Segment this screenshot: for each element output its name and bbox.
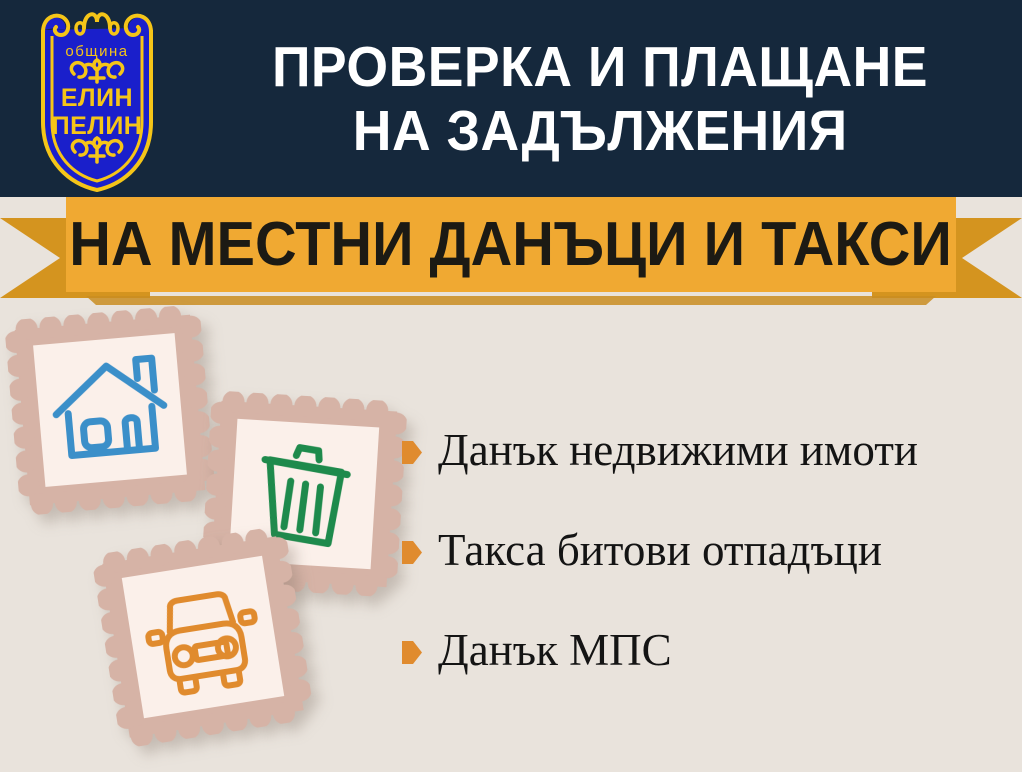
crest-label-line2: ПЕЛИН [52,112,143,140]
header-banner: община ЕЛИН ПЕЛИН ПРОВЕРКА И ПЛАЩАНЕ НА … [0,0,1022,197]
bullet-arrow-icon [402,641,422,664]
stamp-card-property [4,304,216,516]
ribbon-fold-shadow [76,296,946,305]
list-item[interactable]: Данък МПС [402,624,1012,724]
page-title-line-2: НА ЗАДЪЛЖЕНИЯ [353,99,848,163]
page-title-line-1: ПРОВЕРКА И ПЛАЩАНЕ [272,35,928,99]
page-title: ПРОВЕРКА И ПЛАЩАНЕ НА ЗАДЪЛЖЕНИЯ [178,0,1022,197]
stamp-card-vehicle [91,525,315,749]
crest-label-small: община [65,43,128,60]
bullet-arrow-icon [402,441,422,464]
crest-label-line1: ЕЛИН [61,84,133,112]
tax-type-list: Данък недвижими имоти Такса битови отпад… [402,424,1012,724]
ribbon-label: НА МЕСТНИ ДАНЪЦИ И ТАКСИ [70,213,953,277]
list-item-label: Данък недвижими имоти [438,424,918,476]
list-item[interactable]: Такса битови отпадъци [402,524,1012,624]
ribbon-band: НА МЕСТНИ ДАНЪЦИ И ТАКСИ [66,197,956,292]
list-item[interactable]: Данък недвижими имоти [402,424,1012,524]
poster-canvas: община ЕЛИН ПЕЛИН ПРОВЕРКА И ПЛАЩАНЕ НА … [0,0,1022,772]
list-item-label: Такса битови отпадъци [438,524,882,576]
list-item-label: Данък МПС [438,624,672,676]
subtitle-ribbon: НА МЕСТНИ ДАНЪЦИ И ТАКСИ [0,197,1022,297]
bullet-arrow-icon [402,541,422,564]
municipality-crest-icon: община ЕЛИН ПЕЛИН [22,4,172,192]
